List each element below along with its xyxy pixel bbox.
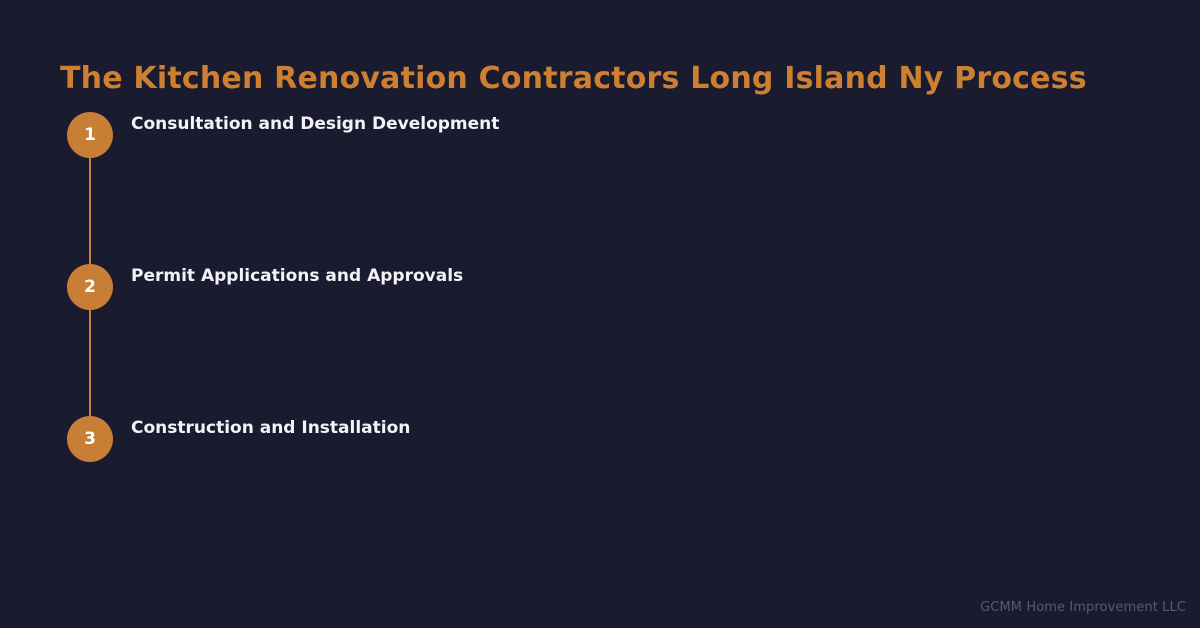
step-marker-2: 2 — [67, 264, 113, 310]
step-marker-1: 1 — [67, 112, 113, 158]
timeline-step-2: 2 Permit Applications and Approvals — [0, 264, 1200, 314]
step-number-2: 2 — [67, 264, 113, 310]
footer-credit: GCMM Home Improvement LLC — [980, 600, 1186, 615]
step-number-1: 1 — [67, 112, 113, 158]
step-label-2: Permit Applications and Approvals — [131, 264, 463, 288]
infographic-canvas: The Kitchen Renovation Contractors Long … — [0, 0, 1200, 628]
step-marker-3: 3 — [67, 416, 113, 462]
timeline-step-1: 1 Consultation and Design Development — [0, 112, 1200, 162]
step-label-1: Consultation and Design Development — [131, 112, 499, 136]
step-number-3: 3 — [67, 416, 113, 462]
process-timeline: 1 Consultation and Design Development 2 … — [0, 0, 1200, 560]
timeline-step-3: 3 Construction and Installation — [0, 416, 1200, 466]
step-label-3: Construction and Installation — [131, 416, 410, 440]
